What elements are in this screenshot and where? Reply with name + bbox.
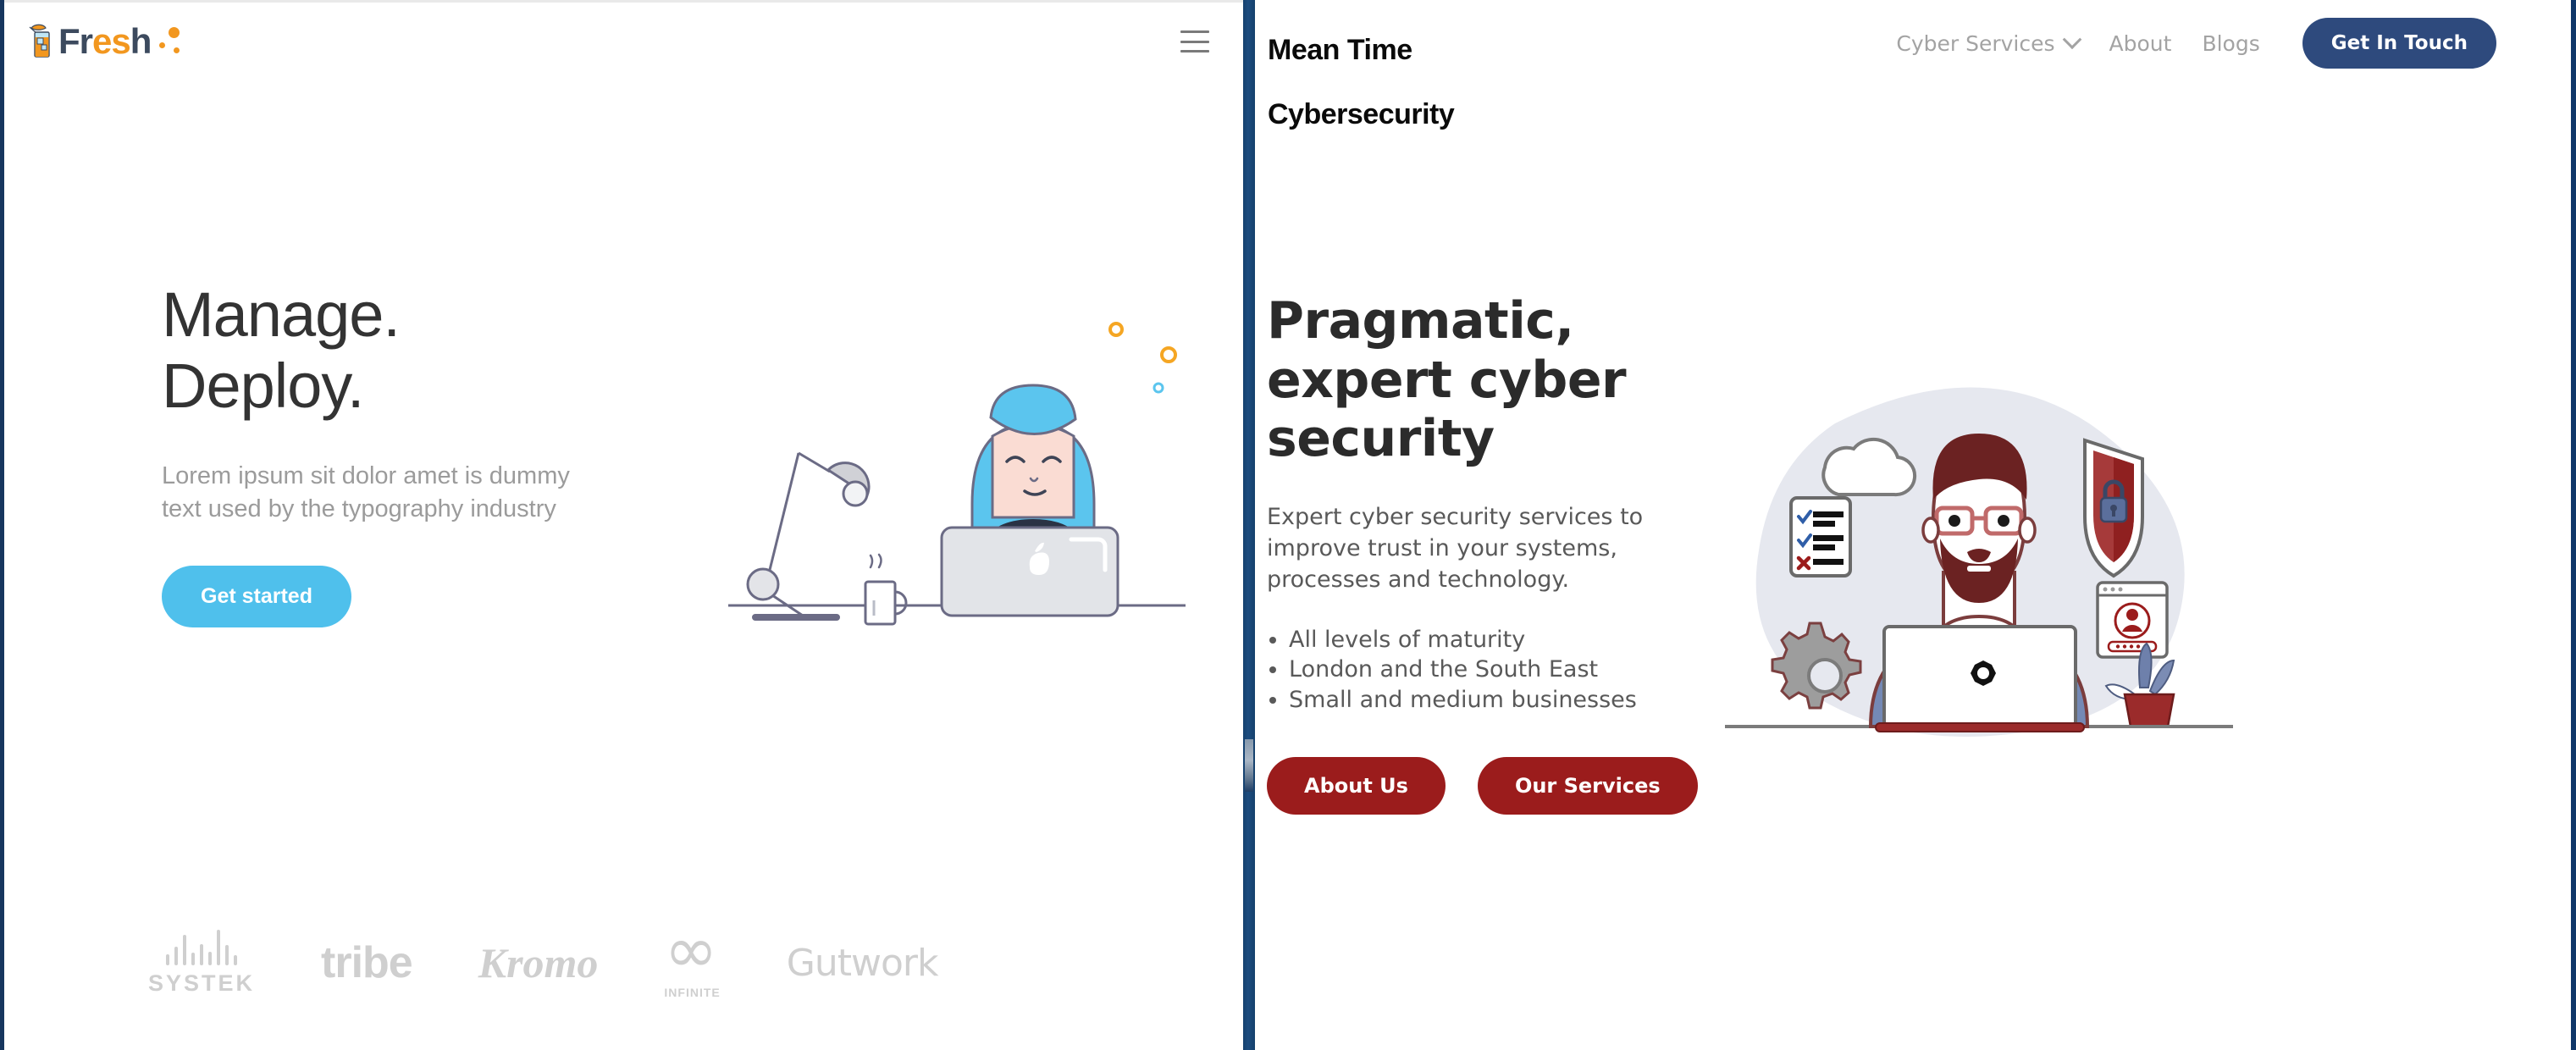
mtc-nav: Cyber Services About Blogs Get In Touch — [1896, 18, 2496, 69]
client-logo-systek: SYSTEK — [148, 930, 255, 997]
get-started-button[interactable]: Get started — [162, 566, 351, 627]
fresh-wordmark-part2: es — [92, 21, 130, 62]
mtc-hero-buttons: About Us Our Services — [1267, 757, 1741, 815]
nav-item-blogs[interactable]: Blogs — [2202, 31, 2259, 56]
list-item: London and the South East — [1289, 655, 1741, 685]
fresh-hero-title: Manage. Deploy. — [162, 279, 687, 423]
fresh-wordmark: Fresh — [58, 21, 151, 62]
fresh-hero-title-line1: Manage. — [162, 279, 400, 350]
mtc-hero-title: Pragmatic, expert cyber security — [1267, 292, 1741, 469]
fresh-wordmark-part3: h — [130, 21, 152, 62]
fresh-hero: Manage. Deploy. Lorem ipsum sit dolor am… — [162, 279, 687, 627]
fresh-hero-title-line2: Deploy. — [162, 351, 363, 421]
our-services-button[interactable]: Our Services — [1478, 757, 1698, 815]
client-logo-label: INFINITE — [664, 986, 720, 999]
fresh-dots-icon — [159, 27, 181, 56]
mtc-hero-title-line1: Pragmatic, — [1267, 291, 1574, 351]
mtc-logo-line1: Mean Time — [1268, 34, 1412, 66]
fresh-wordmark-part1: Fr — [58, 21, 92, 62]
mtc-hero-bullets: All levels of maturity London and the So… — [1267, 625, 1741, 716]
divider-artifact — [1245, 739, 1253, 792]
client-logo-strip: SYSTEK tribe Kromo ∞ INFINITE Gutwork — [148, 927, 1080, 999]
client-logo-label: Kromo — [478, 938, 599, 987]
chevron-down-icon — [2062, 30, 2081, 49]
client-logo-gutwork: Gutwork — [787, 942, 938, 985]
mtc-hero: Pragmatic, expert cyber security Expert … — [1267, 292, 1741, 815]
get-in-touch-button[interactable]: Get In Touch — [2302, 18, 2496, 69]
mtc-hero-title-line3: security — [1267, 409, 1495, 468]
fresh-header: Fresh — [4, 0, 1243, 83]
fresh-hero-subtitle: Lorem ipsum sit dolor amet is dummy text… — [162, 460, 611, 527]
client-logo-infinite: ∞ INFINITE — [664, 927, 720, 999]
mtc-hero-title-line2: expert cyber — [1267, 351, 1626, 410]
client-logo-label: SYSTEK — [148, 970, 255, 997]
pane-divider — [1243, 0, 1255, 1050]
fresh-website-pane: Fresh Manage. Deploy. Lorem ipsum sit do… — [4, 0, 1243, 1050]
nav-item-label: About — [2109, 31, 2172, 56]
woman-at-laptop-illustration — [728, 309, 1186, 665]
mtc-logo-line2: Cybersecurity — [1268, 98, 1454, 130]
mtc-hero-subtitle: Expert cyber security services to improv… — [1267, 501, 1724, 596]
fresh-logo[interactable]: Fresh — [25, 21, 181, 62]
infinity-icon: ∞ — [664, 927, 717, 974]
nav-item-cyber-services[interactable]: Cyber Services — [1896, 31, 2078, 56]
mean-time-cybersecurity-pane: Mean Time Cybersecurity Cyber Services A… — [1255, 0, 2571, 1050]
mtc-header: Mean Time Cybersecurity Cyber Services A… — [1255, 0, 2571, 91]
systek-bars-icon — [166, 930, 237, 965]
about-us-button[interactable]: About Us — [1267, 757, 1446, 815]
bearded-man-at-laptop-security-illustration — [1725, 373, 2233, 762]
nav-item-label: Blogs — [2202, 31, 2259, 56]
client-logo-kromo: Kromo — [478, 938, 599, 987]
split-screen-comparison: Fresh Manage. Deploy. Lorem ipsum sit do… — [0, 0, 2576, 1050]
window-right-edge — [2571, 0, 2576, 1050]
client-logo-label: tribe — [321, 937, 412, 988]
list-item: Small and medium businesses — [1289, 685, 1741, 716]
nav-item-label: Cyber Services — [1896, 31, 2054, 56]
drink-glass-icon — [25, 23, 55, 60]
list-item: All levels of maturity — [1289, 625, 1741, 655]
client-logo-tribe: tribe — [321, 937, 412, 988]
hamburger-menu-icon[interactable] — [1180, 30, 1209, 52]
mtc-logo[interactable]: Mean Time Cybersecurity — [1268, 2, 1454, 130]
client-logo-label: Gutwork — [787, 942, 938, 985]
nav-item-about[interactable]: About — [2109, 31, 2172, 56]
